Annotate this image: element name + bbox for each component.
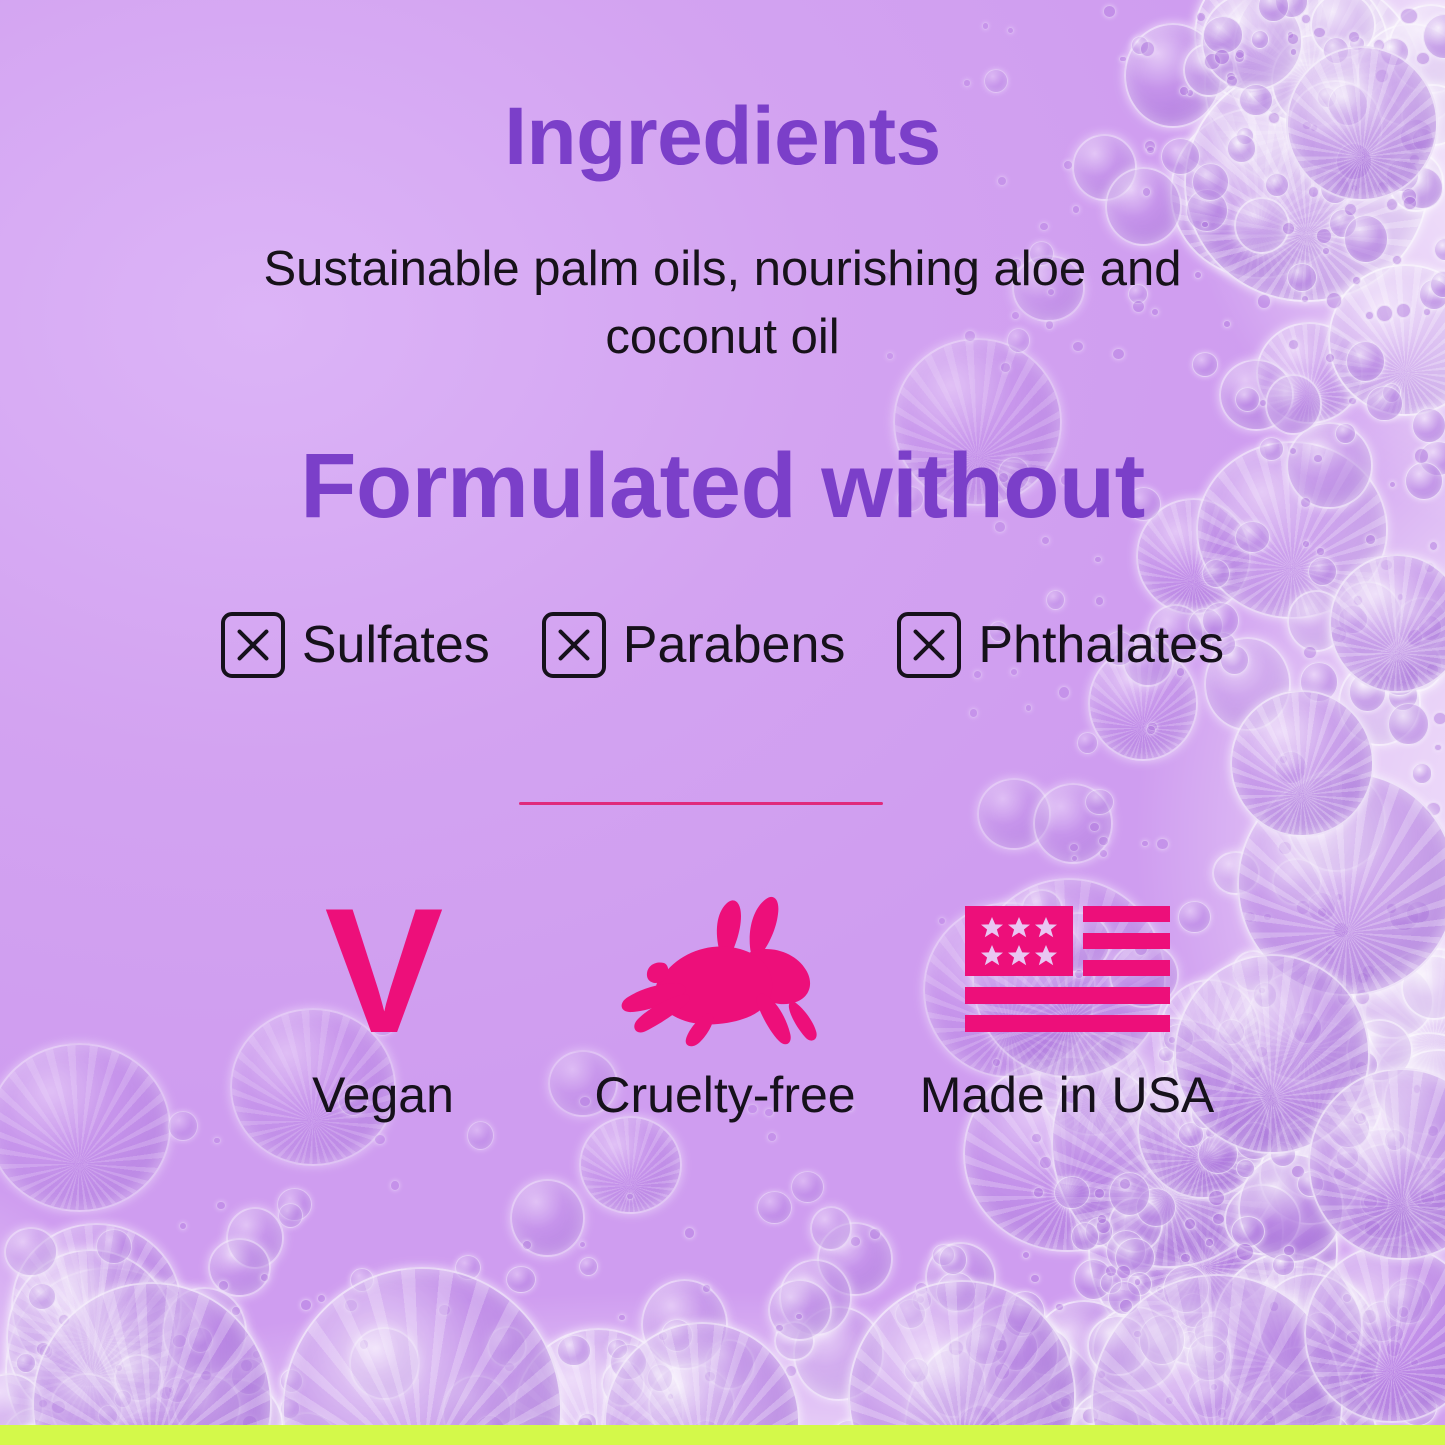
usa-flag-icon <box>965 906 1170 1036</box>
badge-label: Made in USA <box>920 1066 1215 1124</box>
ingredients-heading: Ingredients <box>0 96 1445 178</box>
excluded-ingredients-row: Sulfates Parabens Phthalates <box>150 612 1295 678</box>
section-divider <box>519 802 883 805</box>
badge-art <box>965 890 1170 1052</box>
badge-label: Vegan <box>312 1066 454 1124</box>
rabbit-icon <box>600 891 850 1051</box>
excluded-item-parabens: Parabens <box>542 612 846 678</box>
excluded-item-label: Phthalates <box>978 615 1224 675</box>
certification-badge-row: V Vegan <box>190 890 1260 1124</box>
x-box-icon <box>542 612 606 678</box>
x-box-icon <box>221 612 285 678</box>
badge-made-in-usa: Made in USA <box>922 890 1212 1124</box>
excluded-item-sulfates: Sulfates <box>221 612 490 678</box>
formulated-without-heading: Formulated without <box>0 440 1445 532</box>
badge-vegan: V Vegan <box>238 890 528 1124</box>
content-layer: Ingredients Sustainable palm oils, nouri… <box>0 0 1445 1445</box>
x-box-icon <box>897 612 961 678</box>
badge-art: V <box>325 890 442 1052</box>
infographic-canvas: Ingredients Sustainable palm oils, nouri… <box>0 0 1445 1445</box>
badge-cruelty-free: Cruelty-free <box>580 890 870 1124</box>
excluded-item-phthalates: Phthalates <box>897 612 1224 678</box>
badge-art <box>600 890 850 1052</box>
letter-v-icon: V <box>325 898 442 1044</box>
excluded-item-label: Sulfates <box>302 615 490 675</box>
badge-label: Cruelty-free <box>594 1066 855 1124</box>
excluded-item-label: Parabens <box>623 615 846 675</box>
ingredients-description: Sustainable palm oils, nourishing aloe a… <box>215 236 1230 371</box>
